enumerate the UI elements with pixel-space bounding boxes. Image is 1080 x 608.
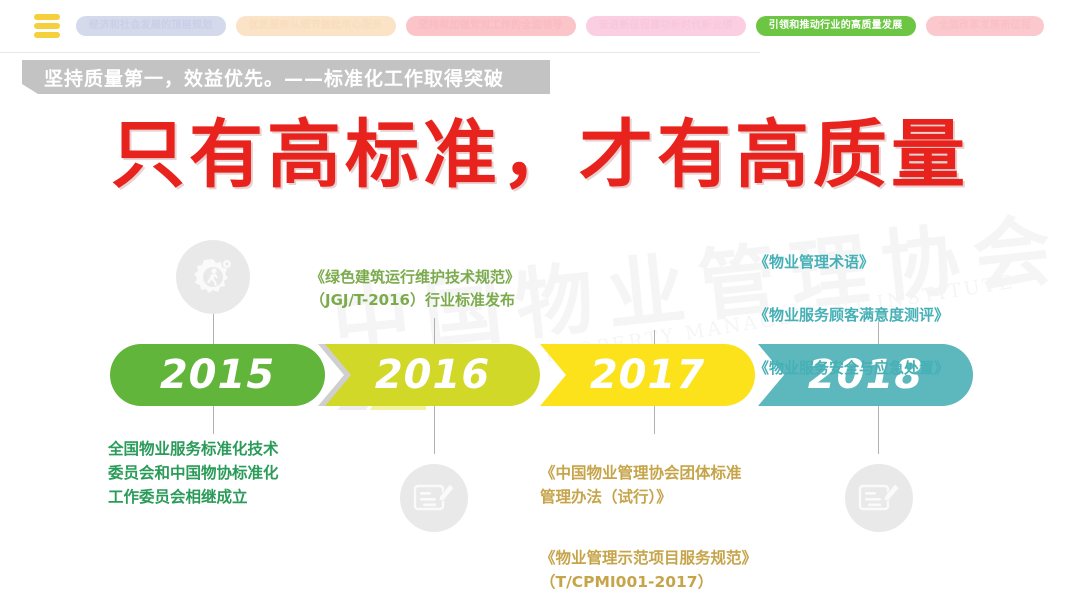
timeline-year-2017: 2017 — [540, 352, 755, 398]
navbar-divider — [0, 52, 760, 53]
ribbon-text: 坚持质量第一，效益优先。——标准化工作取得突破 — [44, 64, 504, 91]
annotation-2018-line-2: 《物业服务顾客满意度测评》 — [754, 304, 949, 327]
annotation-2017: 《中国物业管理协会团体标准 管理办法（试行）》 《物业管理示范项目服务规范》 （… — [540, 437, 757, 608]
document-pen-icon — [412, 478, 456, 518]
nav-pill-3[interactable]: 坚持和加强党对工作的全面领导 — [406, 16, 576, 36]
hamburger-menu-icon[interactable] — [34, 14, 60, 38]
annotation-2016: 《绿色建筑运行维护技术规范》 （JGJ/T-2016）行业标准发布 — [310, 266, 520, 311]
section-ribbon: 坚持质量第一，效益优先。——标准化工作取得突破 — [22, 60, 550, 94]
timeline-bar-2016[interactable]: 2016 — [325, 344, 540, 406]
nav-pill-4[interactable]: 奋进新征程建功新时代新业绩 — [586, 16, 746, 36]
icon-circle-2016 — [400, 464, 468, 532]
hamburger-bar — [34, 14, 60, 20]
top-navbar: 经济和社会发展的顶层规划 优质服务从细节做起用心服务 坚持和加强党对工作的全面领… — [0, 0, 1080, 52]
icon-circle-2018 — [845, 464, 913, 532]
annotation-2015: 全国物业服务标准化技术 委员会和中国物协标准化 工作委员会相继成立 — [108, 437, 279, 509]
annotation-2018-line-3: 《物业服务安全与应急处置》 — [754, 357, 949, 380]
nav-pill-2[interactable]: 优质服务从细节做起用心服务 — [236, 16, 396, 36]
gear-person-icon — [189, 253, 237, 301]
nav-pill-6[interactable]: 全面改革发展新征程 — [926, 16, 1045, 36]
nav-pill-list: 经济和社会发展的顶层规划 优质服务从细节做起用心服务 坚持和加强党对工作的全面领… — [76, 16, 1080, 36]
document-pen-icon — [857, 478, 901, 518]
connector-2016-upper — [434, 318, 435, 346]
nav-pill-1[interactable]: 经济和社会发展的顶层规划 — [76, 16, 226, 36]
timeline-year-2015: 2015 — [110, 352, 325, 398]
annotation-2017-block-1: 《中国物业管理协会团体标准 管理办法（试行）》 — [540, 461, 757, 509]
annotation-2017-block-2: 《物业管理示范项目服务规范》 （T/CPMI001-2017） — [540, 546, 757, 594]
icon-circle-2015 — [176, 240, 250, 314]
connector-2016 — [434, 406, 435, 454]
timeline-bar-2015[interactable]: 2015 — [110, 344, 325, 406]
connector-2017 — [654, 406, 655, 434]
annotation-2018-line-1: 《物业管理术语》 — [754, 251, 949, 274]
timeline-bar-2017[interactable]: 2017 — [540, 344, 755, 406]
hamburger-bar — [34, 32, 60, 38]
connector-2017-upper — [654, 330, 655, 346]
timeline-year-2016: 2016 — [325, 352, 540, 398]
page-title: 只有高标准，才有高质量 — [0, 118, 1080, 192]
annotation-2018: 《物业管理术语》 《物业服务顾客满意度测评》 《物业服务安全与应急处置》 — [754, 228, 949, 410]
slide-canvas: 经济和社会发展的顶层规划 优质服务从细节做起用心服务 坚持和加强党对工作的全面领… — [0, 0, 1080, 608]
nav-pill-active[interactable]: 引领和推动行业的高质量发展 — [756, 16, 916, 36]
connector-2018 — [878, 406, 879, 454]
hamburger-bar — [34, 23, 60, 29]
connector-2015-lower — [213, 406, 214, 434]
